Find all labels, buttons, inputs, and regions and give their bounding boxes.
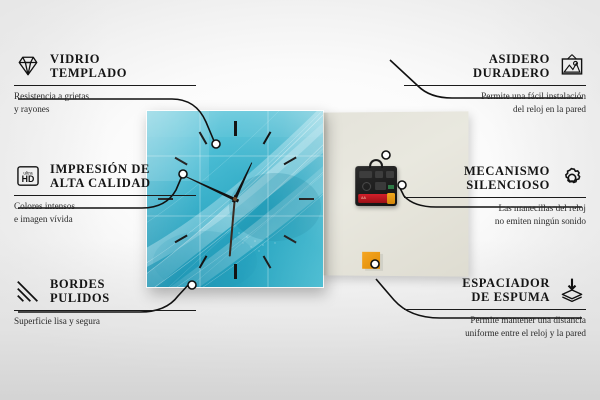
feature-rule: [14, 195, 196, 196]
feature-title-line1: ESPACIADOR: [462, 276, 550, 290]
feature-espaciador-de-espuma: ESPACIADOR DE ESPUMA Permite mantener un…: [404, 276, 586, 339]
feature-title-line1: BORDES: [50, 277, 110, 291]
feature-rule: [14, 310, 196, 311]
battery-tip: [387, 193, 395, 204]
svg-text:HD: HD: [22, 174, 35, 184]
movement-slot: [375, 171, 383, 178]
feature-vidrio-templado: VIDRIO TEMPLADO Resistencia a grietas y …: [14, 52, 196, 115]
feature-titles: ESPACIADOR DE ESPUMA: [462, 276, 550, 304]
feature-asidero-duradero: ASIDERO DURADERO Permite una fácil insta…: [404, 52, 586, 115]
feature-header: MECANISMO SILENCIOSO: [404, 164, 586, 192]
feature-mecanismo-silencioso: MECANISMO SILENCIOSO Las manecillas del …: [404, 164, 586, 227]
feature-title-line2: TEMPLADO: [50, 66, 127, 80]
feature-description: Las manecillas del reloj no emiten ningú…: [404, 202, 586, 227]
movement-slot: [359, 171, 372, 178]
feature-desc-line1: Resistencia a grietas: [14, 91, 89, 101]
feature-rule: [404, 309, 586, 310]
movement-green-chip: [388, 185, 394, 189]
feature-title-line2: PULIDOS: [50, 291, 110, 305]
feature-bordes-pulidos: BORDES PULIDOS Superficie lisa y segura: [14, 277, 196, 328]
feature-titles: ASIDERO DURADERO: [473, 52, 550, 80]
quartz-movement: AA: [355, 166, 397, 206]
feature-rule: [404, 197, 586, 198]
feature-desc-line2: del reloj en la pared: [513, 104, 586, 114]
feature-title-line2: SILENCIOSO: [464, 178, 550, 192]
feature-titles: MECANISMO SILENCIOSO: [464, 164, 550, 192]
feature-title-line2: DE ESPUMA: [462, 290, 550, 304]
feature-titles: IMPRESIÓN DE ALTA CALIDAD: [50, 162, 151, 190]
foam-spacer: [362, 252, 380, 269]
movement-slots: [359, 171, 394, 178]
feature-desc-line2: uniforme entre el reloj y la pared: [465, 328, 586, 338]
feature-header: VIDRIO TEMPLADO: [14, 52, 196, 80]
framed-picture-hanging-icon: [558, 52, 586, 80]
feature-impresion-alta-calidad: ultra HD IMPRESIÓN DE ALTA CALIDAD Color…: [14, 162, 196, 225]
ultra-hd-icon: ultra HD: [14, 162, 42, 190]
feature-title-line2: DURADERO: [473, 66, 550, 80]
feature-title-line2: ALTA CALIDAD: [50, 176, 151, 190]
feature-title-line1: IMPRESIÓN DE: [50, 162, 151, 176]
feature-title-line1: VIDRIO: [50, 52, 127, 66]
feature-desc-line2: no emiten ningún sonido: [495, 216, 586, 226]
feature-desc-line1: Las manecillas del reloj: [498, 203, 586, 213]
feature-rule: [404, 85, 586, 86]
foam-spacer-arrow-icon: [558, 276, 586, 304]
feature-rule: [14, 85, 196, 86]
feature-description: Resistencia a grietas y rayones: [14, 90, 196, 115]
movement-knob: [362, 182, 371, 191]
feature-header: ASIDERO DURADERO: [404, 52, 586, 80]
feature-description: Permite mantener una distancia uniforme …: [404, 314, 586, 339]
feature-title-line1: ASIDERO: [473, 52, 550, 66]
movement-knob-square: [375, 182, 386, 190]
feature-title-line1: MECANISMO: [464, 164, 550, 178]
movement-slot: [386, 171, 394, 178]
battery-label: AA: [361, 195, 366, 199]
feature-description: Superficie lisa y segura: [14, 315, 196, 327]
feature-desc-line1: Permite mantener una distancia: [470, 315, 586, 325]
feature-titles: BORDES PULIDOS: [50, 277, 110, 305]
feature-desc-line1: Colores intensos: [14, 201, 75, 211]
polished-edges-icon: [14, 277, 42, 305]
feature-header: ESPACIADOR DE ESPUMA: [404, 276, 586, 304]
gear-icon: [558, 164, 586, 192]
feature-description: Permite una fácil instalación del reloj …: [404, 90, 586, 115]
battery: AA: [358, 194, 394, 203]
feature-header: ultra HD IMPRESIÓN DE ALTA CALIDAD: [14, 162, 196, 190]
feature-desc-line1: Permite una fácil instalación: [481, 91, 586, 101]
feature-desc-line2: e imagen vívida: [14, 214, 73, 224]
feature-header: BORDES PULIDOS: [14, 277, 196, 305]
hanging-hook-icon: [369, 159, 383, 168]
feature-desc-line1: Superficie lisa y segura: [14, 316, 100, 326]
feature-desc-line2: y rayones: [14, 104, 49, 114]
feature-description: Colores intensos e imagen vívida: [14, 200, 196, 225]
diamond-icon: [14, 52, 42, 80]
feature-titles: VIDRIO TEMPLADO: [50, 52, 127, 80]
